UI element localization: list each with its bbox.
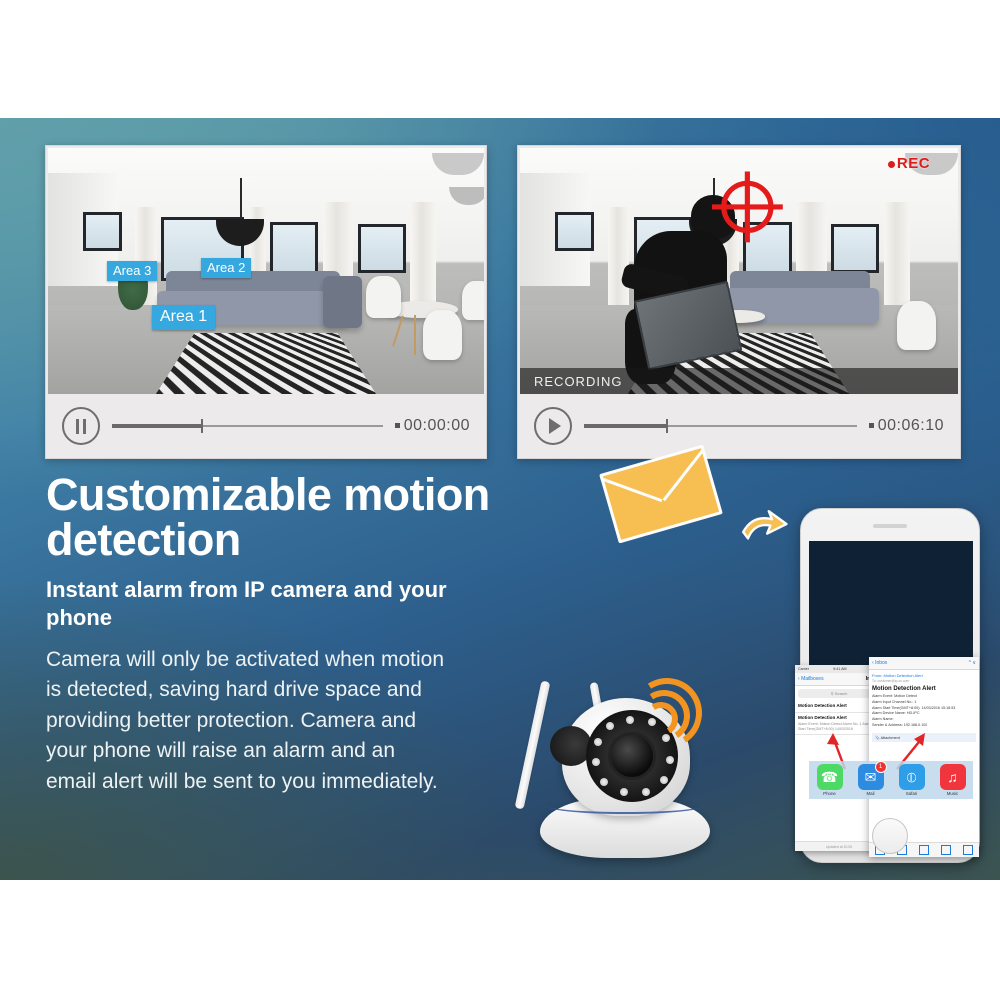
player-controls-left: 00:00:00: [48, 396, 484, 456]
smartphone: Carrier 9:41 AM 100% ‹ Mailboxes Inbox ⚲…: [800, 508, 980, 863]
curtain: [884, 202, 910, 310]
ir-led: [642, 788, 650, 796]
window: [83, 212, 122, 251]
phone-icon: ☎: [817, 764, 843, 790]
face-detection-reticle: [697, 170, 798, 244]
area-tag-3[interactable]: Area 3: [107, 261, 157, 281]
pause-icon: [83, 419, 86, 434]
trash-icon[interactable]: [919, 845, 929, 855]
phone-speaker: [873, 524, 907, 528]
timestamp-marker-icon: [395, 423, 400, 428]
carrier-label: Carrier: [798, 667, 809, 671]
pendant-rod: [240, 178, 242, 222]
living-room-scene-intruder: REC RECORDING: [520, 148, 958, 394]
page-title: Customizable motion detection: [46, 473, 516, 562]
subheadline: Instant alarm from IP camera and your ph…: [46, 576, 476, 632]
flow-arrow-icon: [740, 508, 788, 548]
rec-indicator: REC: [888, 155, 930, 172]
recording-label: RECORDING: [534, 374, 622, 389]
back-to-inbox-button[interactable]: ‹ Inbox: [872, 660, 887, 666]
area-tag-2[interactable]: Area 2: [201, 258, 251, 278]
blue-trim-band: [544, 796, 706, 814]
mail-subject: Motion Detection Alert: [798, 703, 880, 710]
mail-subject-title: Motion Detection Alert: [872, 686, 976, 692]
search-placeholder: ⚲ Search: [831, 691, 848, 696]
mail-badge: 1: [875, 761, 887, 773]
ir-led: [600, 778, 608, 786]
chair: [462, 281, 484, 320]
chair: [897, 301, 936, 350]
window: [831, 224, 879, 273]
ir-led: [592, 758, 600, 766]
chair: [366, 276, 401, 318]
dock-app-mail[interactable]: ✉1 Mail: [858, 764, 884, 796]
reply-icon[interactable]: [941, 845, 951, 855]
message-pager-icons[interactable]: ^ ∨: [969, 660, 976, 666]
ip-camera: [520, 658, 730, 858]
ir-led: [606, 722, 614, 730]
search-input[interactable]: ⚲ Search: [798, 689, 880, 698]
back-label: Mailboxes: [801, 676, 824, 682]
antenna-left: [515, 680, 551, 809]
area-tag-1[interactable]: Area 1: [152, 305, 215, 330]
chair: [423, 310, 462, 359]
body-copy: Camera will only be activated when motio…: [46, 645, 446, 797]
progress-knob[interactable]: [201, 419, 203, 433]
recording-banner: RECORDING: [520, 368, 958, 394]
app-label: Phone: [817, 791, 843, 796]
mail-icon: ✉1: [858, 764, 884, 790]
ir-led: [666, 756, 674, 764]
message-navbar: ‹ Inbox ^ ∨: [869, 657, 979, 670]
promo-banner: Area 3 Area 2 Area 1 00:00:00: [0, 118, 1000, 880]
window: [555, 212, 594, 251]
window: [358, 224, 406, 273]
email-envelope-icon: [599, 445, 723, 544]
mail-subject: Motion Detection Alert: [798, 715, 880, 722]
play-icon: [549, 418, 561, 434]
play-button[interactable]: [534, 407, 572, 445]
dock-app-safari[interactable]: ⦶ Safari: [899, 764, 925, 796]
app-label: Safari: [899, 791, 925, 796]
ir-led: [620, 788, 628, 796]
progress-knob[interactable]: [666, 419, 668, 433]
clock-label: 9:41 AM: [833, 667, 846, 671]
phone-dock: ☎ Phone ✉1 Mail ⦶ Safari ♫ Music: [809, 761, 973, 799]
compose-icon[interactable]: [963, 845, 973, 855]
envelope-flap: [599, 445, 723, 544]
music-icon: ♫: [940, 764, 966, 790]
sofa-arm: [323, 276, 362, 328]
window: [270, 222, 318, 276]
curtain: [410, 202, 436, 310]
progress-fill: [584, 424, 666, 428]
timestamp-value: 00:06:10: [878, 417, 944, 434]
app-label: Music: [940, 791, 966, 796]
timestamp-left: 00:00:00: [395, 417, 470, 435]
rec-dot-icon: [888, 161, 895, 168]
rec-label: REC: [897, 155, 930, 172]
player-controls-right: 00:06:10: [520, 396, 958, 456]
safari-icon: ⦶: [899, 764, 925, 790]
progress-slider-left[interactable]: [112, 419, 383, 433]
app-label: Mail: [858, 791, 884, 796]
ir-led: [594, 738, 602, 746]
timestamp-right: 00:06:10: [869, 417, 944, 435]
video-player-right: REC RECORDING 00:06:10: [517, 145, 961, 459]
ir-led: [660, 776, 668, 784]
timestamp-marker-icon: [869, 423, 874, 428]
video-player-left: Area 3 Area 2 Area 1 00:00:00: [45, 145, 487, 459]
dock-app-music[interactable]: ♫ Music: [940, 764, 966, 796]
progress-fill: [112, 424, 201, 428]
dock-app-phone[interactable]: ☎ Phone: [817, 764, 843, 796]
back-to-mailboxes-button[interactable]: ‹ Mailboxes: [798, 676, 824, 682]
living-room-scene: Area 3 Area 2 Area 1: [48, 148, 484, 394]
timestamp-value: 00:00:00: [404, 417, 470, 434]
mail-to: To: customer@ip-cc.com: [872, 679, 976, 684]
updated-label: Updated at 10:05: [826, 845, 852, 849]
video-screen-left: Area 3 Area 2 Area 1: [48, 148, 484, 394]
video-screen-right: REC RECORDING: [520, 148, 958, 394]
home-button[interactable]: [872, 818, 908, 854]
back-label: Inbox: [875, 660, 887, 666]
pause-button[interactable]: [62, 407, 100, 445]
table-leg: [414, 315, 416, 354]
pause-icon: [76, 419, 79, 434]
progress-slider-right[interactable]: [584, 419, 857, 433]
mail-line: Sender & Address: 192.168.0.102: [872, 723, 976, 729]
